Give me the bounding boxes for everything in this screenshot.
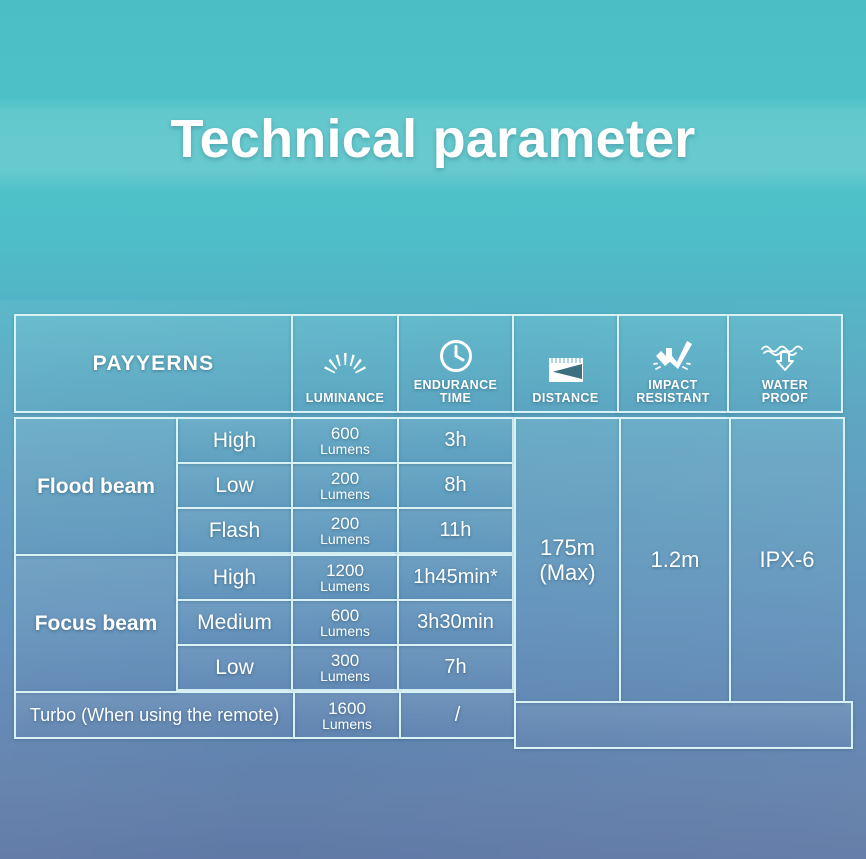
luminance-value: 300 Lumens (291, 644, 399, 691)
endurance-value: 7h (397, 644, 514, 691)
modes-grid: Flood beam High 600 Lumens 3h Low 200 (14, 417, 516, 749)
group-label-focus-beam: Focus beam (14, 554, 178, 693)
impact-check-icon (651, 336, 695, 376)
water-proof-value: IPX-6 (729, 417, 845, 703)
brand-name: PAYYERNS (93, 352, 215, 376)
mode-name: High (176, 554, 293, 601)
header-impact-line2: RESISTANT (636, 392, 710, 405)
lumens-unit: Lumens (320, 532, 370, 546)
table-row: Medium 600 Lumens 3h30min (176, 599, 516, 646)
lumens-number: 600 (331, 425, 359, 442)
lumens-number: 300 (331, 652, 359, 669)
table-row: High 600 Lumens 3h (176, 417, 516, 464)
mode-name: High (176, 417, 293, 464)
header-luminance: LUMINANCE (291, 314, 399, 413)
group-flood-beam: Flood beam High 600 Lumens 3h Low 200 (14, 417, 516, 556)
header-distance-label: DISTANCE (532, 392, 598, 405)
table-row: Low 200 Lumens 8h (176, 462, 516, 509)
group-label-flood-beam: Flood beam (14, 417, 178, 556)
group-focus-beam: Focus beam High 1200 Lumens 1h45min* Med… (14, 554, 516, 693)
header-water-line1: WATER (762, 379, 808, 392)
header-impact-line1: IMPACT (636, 379, 710, 392)
table-header-row: PAYYERNS (14, 314, 853, 413)
endurance-value: 1h45min* (397, 554, 514, 601)
merged-specs-grid: 175m (Max) 1.2m IPX-6 (514, 417, 853, 749)
endurance-value: 8h (397, 462, 514, 509)
brand-cell: PAYYERNS (14, 314, 293, 413)
table-body: Flood beam High 600 Lumens 3h Low 200 (14, 417, 853, 749)
water-drop-waves-icon (759, 336, 811, 376)
impact-resistant-value: 1.2m (619, 417, 731, 703)
lumens-unit: Lumens (320, 669, 370, 683)
mode-name: Flash (176, 507, 293, 554)
sun-rays-icon (322, 349, 368, 389)
lumens-unit: Lumens (322, 717, 372, 731)
endurance-value: 3h30min (397, 599, 514, 646)
header-endurance-line1: ENDURANCE (414, 379, 497, 392)
technical-parameter-table: PAYYERNS (14, 314, 853, 749)
lumens-unit: Lumens (320, 579, 370, 593)
lumens-number: 200 (331, 470, 359, 487)
mode-name: Low (176, 462, 293, 509)
lumens-number: 1600 (328, 700, 366, 717)
turbo-luminance-value: 1600 Lumens (293, 691, 401, 739)
lumens-number: 200 (331, 515, 359, 532)
endurance-value: 3h (397, 417, 514, 464)
luminance-value: 200 Lumens (291, 507, 399, 554)
header-luminance-label: LUMINANCE (306, 392, 385, 405)
table-row: Flash 200 Lumens 11h (176, 507, 516, 554)
header-distance: DISTANCE (512, 314, 619, 413)
table-row-turbo: Turbo (When using the remote) 1600 Lumen… (14, 691, 516, 739)
lumens-number: 1200 (326, 562, 364, 579)
luminance-value: 600 Lumens (291, 417, 399, 464)
turbo-endurance-value: / (399, 691, 516, 739)
mode-name: Low (176, 644, 293, 691)
header-endurance-line2: TIME (414, 392, 497, 405)
turbo-merged-blank-cell (514, 701, 853, 749)
table-row: Low 300 Lumens 7h (176, 644, 516, 691)
lumens-number: 600 (331, 607, 359, 624)
distance-line1: 175m (540, 535, 595, 560)
distance-line2: (Max) (539, 560, 595, 585)
header-endurance-time: ENDURANCE TIME (397, 314, 514, 413)
endurance-value: 11h (397, 507, 514, 554)
lumens-unit: Lumens (320, 487, 370, 501)
header-impact-resistant: IMPACT RESISTANT (617, 314, 729, 413)
header-water-proof: WATER PROOF (727, 314, 843, 413)
luminance-value: 200 Lumens (291, 462, 399, 509)
page-title: Technical parameter (0, 108, 866, 170)
mode-name: Medium (176, 599, 293, 646)
lumens-unit: Lumens (320, 442, 370, 456)
turbo-label: Turbo (When using the remote) (14, 691, 295, 739)
clock-icon (438, 336, 474, 376)
distance-value: 175m (Max) (514, 417, 621, 703)
beam-distance-icon (544, 349, 588, 389)
table-row: High 1200 Lumens 1h45min* (176, 554, 516, 601)
lumens-unit: Lumens (320, 624, 370, 638)
luminance-value: 600 Lumens (291, 599, 399, 646)
header-water-line2: PROOF (762, 392, 808, 405)
luminance-value: 1200 Lumens (291, 554, 399, 601)
